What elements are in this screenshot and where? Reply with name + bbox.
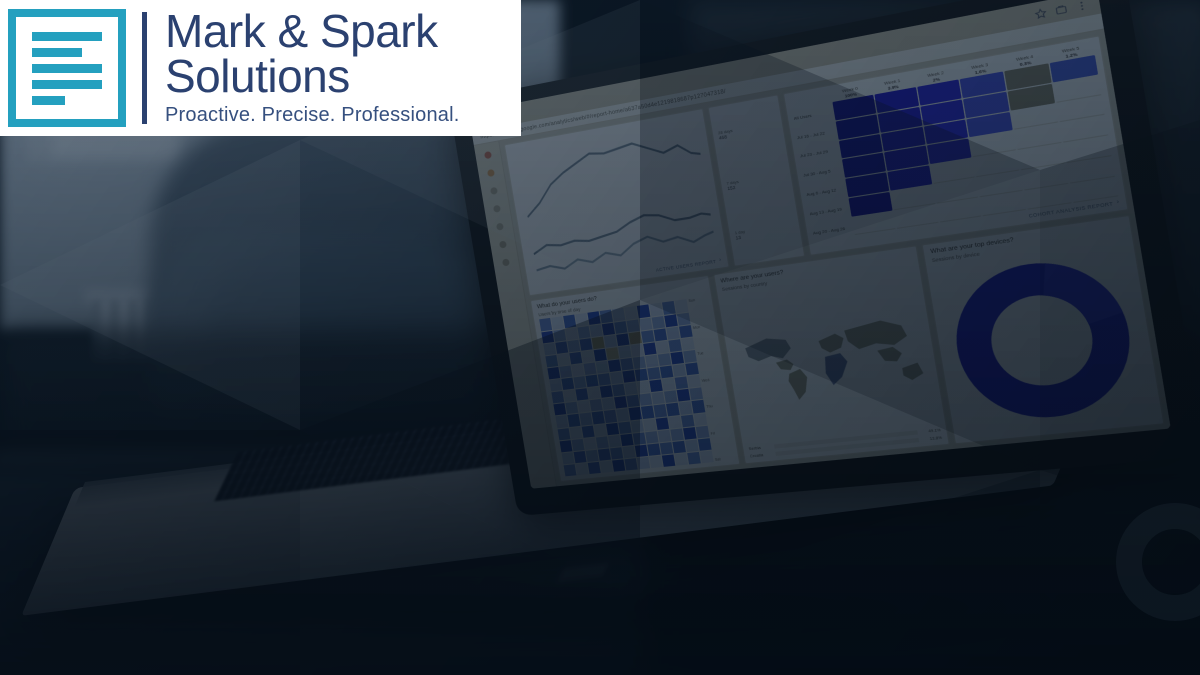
brand-tagline: Proactive. Precise. Professional. <box>165 102 460 128</box>
brand-text: Mark & Spark Solutions Proactive. Precis… <box>165 9 460 128</box>
logo-bar-5 <box>32 96 65 105</box>
brand-logo-panel: Mark & Spark Solutions Proactive. Precis… <box>0 0 521 136</box>
logo-bar-1 <box>32 32 102 41</box>
logo-bar-2 <box>32 48 82 57</box>
document-lines-logo-icon <box>8 9 126 127</box>
logo-divider <box>142 12 147 124</box>
banner-stage: https://analytics.google.com/analytics/w… <box>0 0 1200 675</box>
logo-bar-4 <box>32 80 102 89</box>
brand-name-line-1: Mark & Spark <box>165 9 460 54</box>
brand-name-line-2: Solutions <box>165 54 460 99</box>
logo-bar-3 <box>32 64 102 73</box>
